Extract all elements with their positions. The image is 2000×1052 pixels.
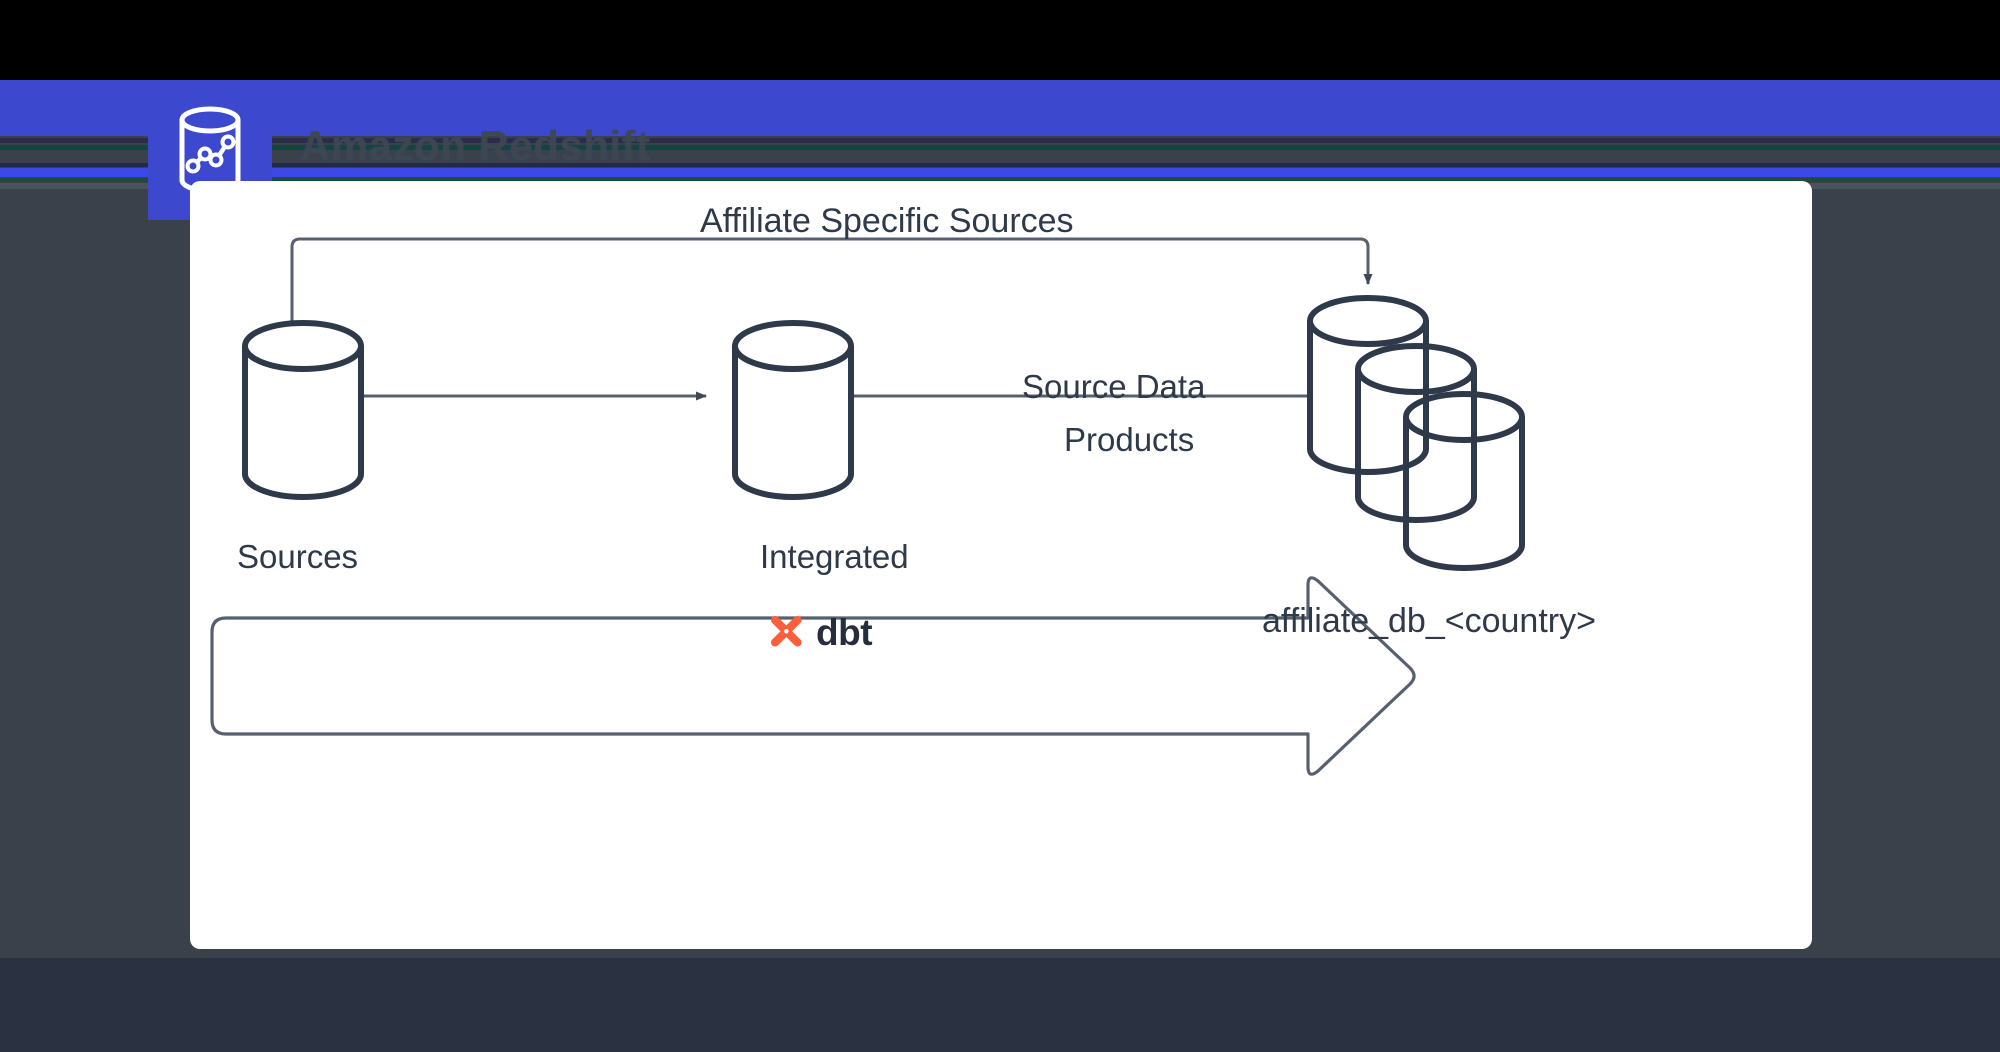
edge-label-source-data-line1: Source Data [1022, 368, 1205, 406]
diagram-card: Affiliate Specific Sources Sources Integ… [190, 181, 1812, 949]
dbt-logo-lockup: dbt [768, 613, 872, 651]
node-affiliate-db-stack [1310, 298, 1522, 568]
service-title: Amazon Redshift [300, 122, 651, 170]
node-label-integrated: Integrated [760, 538, 909, 576]
top-black-band [0, 0, 2000, 80]
dbt-banner-arrow [212, 578, 1414, 774]
dbt-wordmark: dbt [816, 614, 872, 651]
node-integrated-cylinder [735, 323, 851, 497]
pipeline-diagram [190, 181, 1812, 949]
dbt-x-mark-icon [768, 613, 806, 651]
edge-label-source-data-line2: Products [1064, 421, 1194, 459]
node-sources-cylinder [245, 323, 361, 497]
screenshot-root: Amazon Redshift [0, 0, 2000, 1052]
node-label-sources: Sources [237, 538, 358, 576]
edge-sources-to-affiliate [292, 239, 1368, 329]
node-label-affiliate-db: affiliate_db_<country> [1262, 602, 1596, 641]
edge-label-affiliate-specific-sources: Affiliate Specific Sources [700, 202, 1074, 241]
footer-band [0, 958, 2000, 1052]
